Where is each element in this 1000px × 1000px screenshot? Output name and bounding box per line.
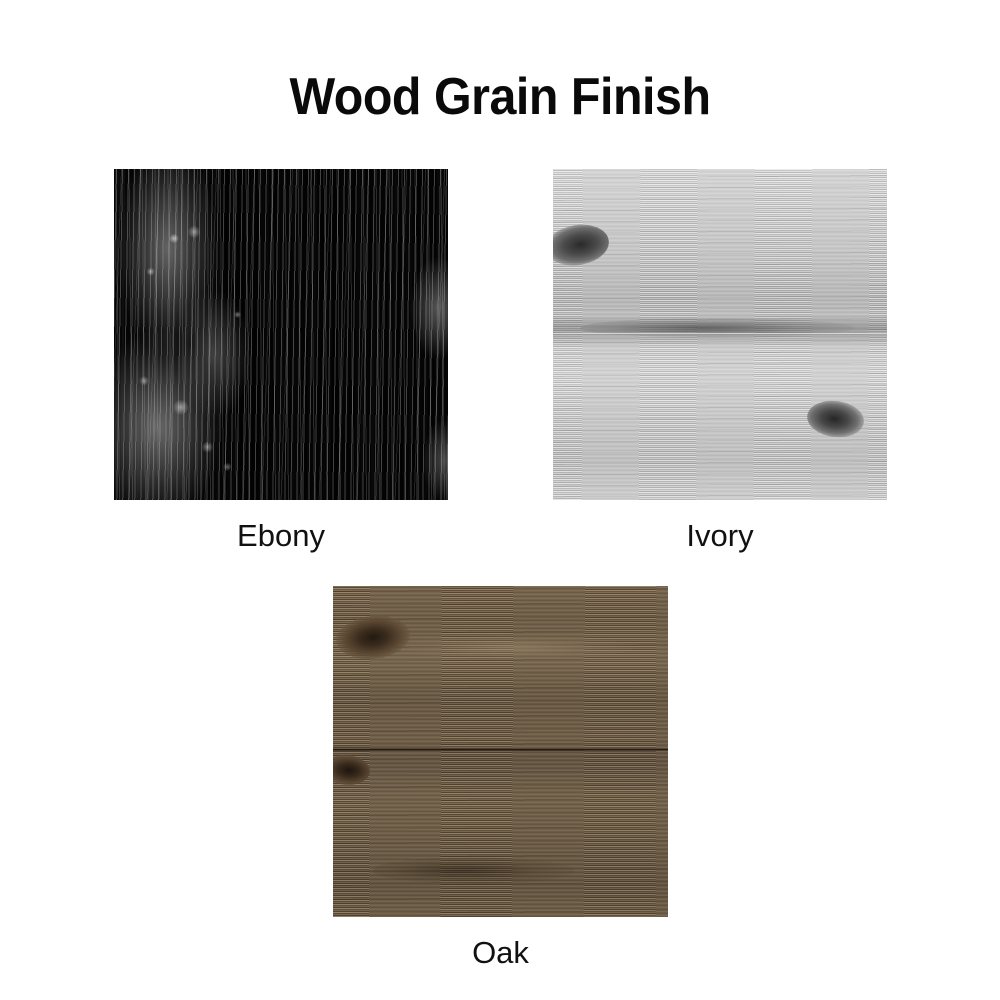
plank-seam [333, 748, 668, 751]
swatch-label-ivory: Ivory [686, 518, 753, 554]
swatch-option-oak[interactable]: Oak [333, 586, 668, 917]
swatch-image-oak[interactable] [333, 586, 668, 917]
grain-swirl [373, 857, 574, 883]
swatch-label-ebony: Ebony [237, 518, 325, 554]
wood-grain-finish-page: { "page": { "title": "Wood Grain Finish"… [0, 0, 1000, 1000]
swatch-option-ebony[interactable]: Ebony [114, 169, 448, 500]
plank-seam [553, 333, 887, 336]
swatch-image-ebony[interactable] [114, 169, 448, 500]
swatch-image-ivory[interactable] [553, 169, 887, 500]
page-title: Wood Grain Finish [35, 66, 965, 128]
grain-streak [393, 636, 634, 659]
swatch-label-oak: Oak [472, 935, 529, 971]
wood-knot-icon [553, 221, 612, 270]
wood-knot-icon [805, 397, 866, 440]
swatch-option-ivory[interactable]: Ivory [553, 169, 887, 500]
wood-knot-icon [334, 612, 412, 662]
wood-knot-icon [333, 753, 371, 787]
